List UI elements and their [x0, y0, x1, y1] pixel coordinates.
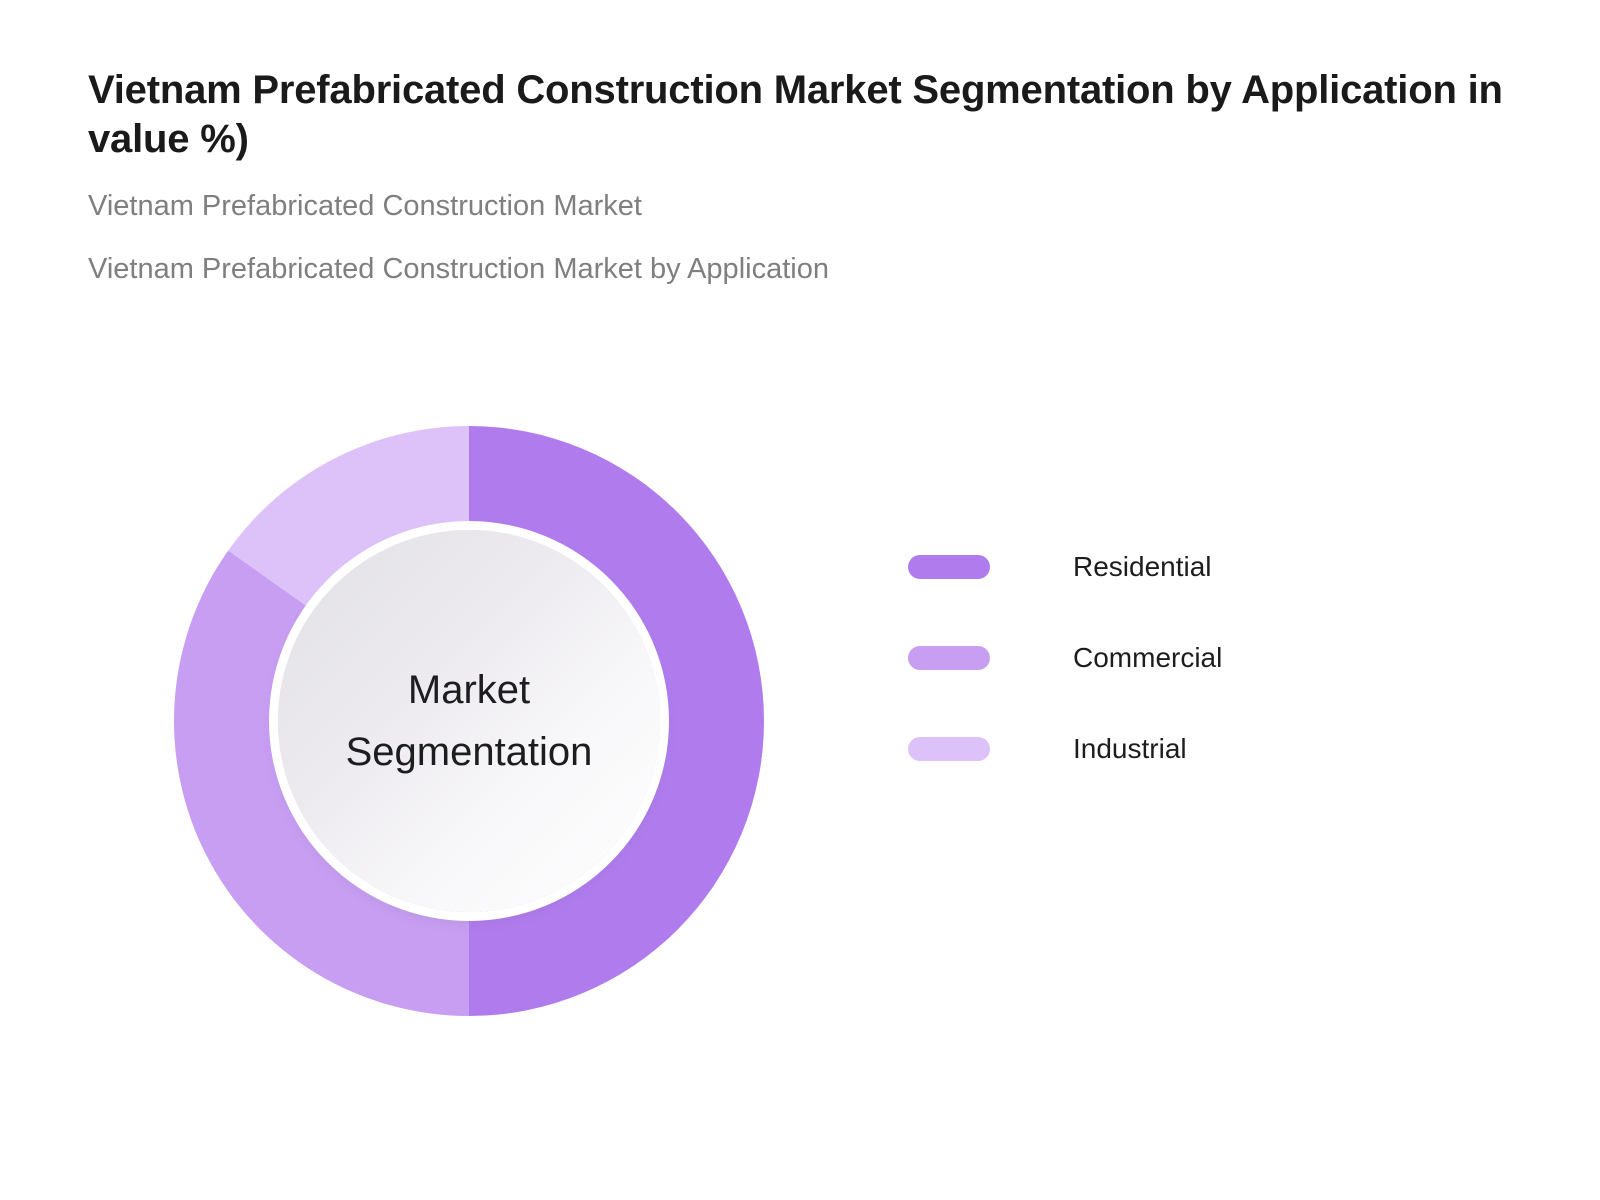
legend-label: Industrial: [1073, 733, 1187, 765]
donut-center-label: MarketSegmentation: [312, 659, 627, 783]
donut-chart: MarketSegmentation Residential Commercia…: [0, 330, 1600, 1130]
legend-item-commercial[interactable]: Commercial: [908, 646, 1222, 670]
legend-swatch-icon: [908, 737, 990, 761]
chart-legend: Residential Commercial Industrial: [908, 555, 1222, 761]
legend-swatch-icon: [908, 555, 990, 579]
legend-label: Commercial: [1073, 642, 1222, 674]
legend-swatch-icon: [908, 646, 990, 670]
donut-graphic: MarketSegmentation: [174, 426, 764, 1016]
legend-label: Residential: [1073, 551, 1212, 583]
chart-header: Vietnam Prefabricated Construction Marke…: [88, 66, 1568, 284]
chart-subtitle-secondary: Vietnam Prefabricated Construction Marke…: [88, 255, 1568, 284]
donut-center-hole: MarketSegmentation: [278, 530, 660, 912]
page-title: Vietnam Prefabricated Construction Marke…: [88, 66, 1568, 164]
chart-subtitle-primary: Vietnam Prefabricated Construction Marke…: [88, 192, 1568, 221]
legend-item-industrial[interactable]: Industrial: [908, 737, 1222, 761]
legend-item-residential[interactable]: Residential: [908, 555, 1222, 579]
